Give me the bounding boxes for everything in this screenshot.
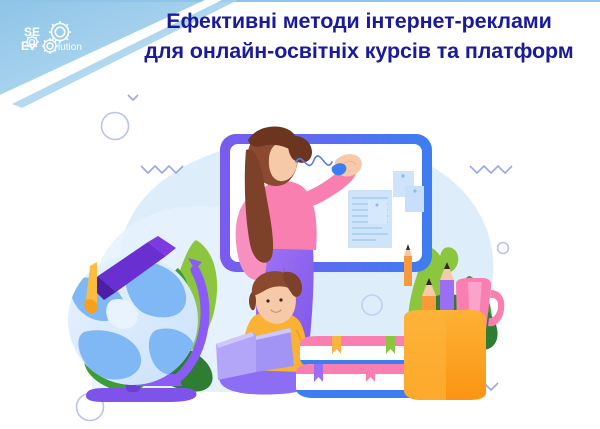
banner-canvas: SE Ev lution Ефективні методи інтернет-р… bbox=[0, 0, 600, 429]
title-line-1: Ефективні методи інтернет-реклами bbox=[120, 6, 598, 36]
page-title: Ефективні методи інтернет-реклами для он… bbox=[120, 6, 598, 66]
title-line-2: для онлайн-освітніх курсів та платформ bbox=[120, 36, 598, 66]
